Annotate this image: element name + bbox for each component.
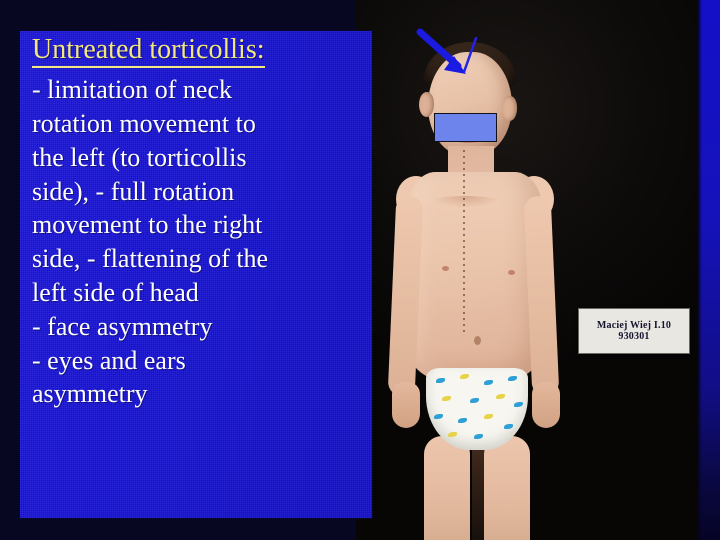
leg-left (424, 436, 470, 540)
hand-left (392, 382, 420, 428)
body-line: movement to the right (32, 208, 364, 242)
leg-gap-shadow (472, 436, 484, 540)
body-line: side), - full rotation (32, 175, 364, 209)
navel (474, 336, 481, 345)
slide-body: - limitation of neck rotation movement t… (32, 73, 364, 411)
leg-right (484, 436, 530, 540)
body-line: - eyes and ears (32, 344, 364, 378)
body-line: - face asymmetry (32, 310, 364, 344)
body-line: left side of head (32, 276, 364, 310)
body-line: the left (to torticollis (32, 141, 364, 175)
body-midline-marking (463, 150, 465, 335)
id-card-name: Maciej Wiej I.10 (597, 320, 671, 332)
annotation-arrow-icon (400, 14, 520, 124)
body-line: side, - flattening of the (32, 242, 364, 276)
id-card-number: 930301 (618, 331, 649, 343)
slide-text-panel: Untreated torticollis: - limitation of n… (20, 31, 372, 518)
collarbone-shadow (430, 196, 502, 208)
hand-right (532, 382, 560, 428)
body-line: rotation movement to (32, 107, 364, 141)
slide-title: Untreated torticollis: (32, 35, 265, 68)
patient-id-card: Maciej Wiej I.10 930301 (578, 308, 690, 354)
nipple-left (442, 266, 449, 271)
presentation-slide: Maciej Wiej I.10 930301 Untreated tortic… (0, 0, 720, 540)
nipple-right (508, 270, 515, 275)
right-blue-strip (698, 0, 720, 540)
body-line: - limitation of neck (32, 73, 364, 107)
legs (422, 436, 534, 540)
body-line: asymmetry (32, 377, 364, 411)
